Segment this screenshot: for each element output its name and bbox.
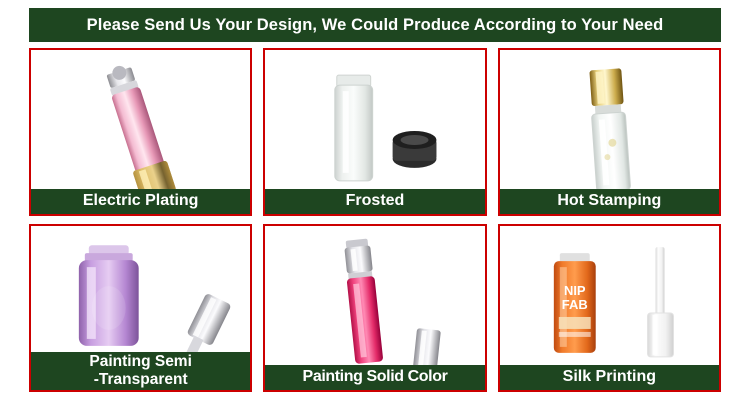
product-cell-hot-stamping[interactable]: Hot Stamping (498, 48, 721, 216)
svg-text:NIP: NIP (564, 283, 586, 298)
caption-frosted: Frosted (265, 189, 484, 214)
caption-painting-semi-transparent: Painting Semi -Transparent (31, 352, 250, 390)
caption-painting-solid-color: Painting Solid Color (265, 365, 484, 390)
product-cell-frosted[interactable]: Frosted (263, 48, 486, 216)
caption-electric-plating: Electric Plating (31, 189, 250, 214)
caption-line-2: -Transparent (31, 371, 250, 388)
caption-silk-printing: Silk Printing (500, 365, 719, 390)
product-grid: Electric Plating (29, 48, 721, 392)
svg-text:FAB: FAB (561, 297, 587, 312)
caption-hot-stamping: Hot Stamping (500, 189, 719, 214)
product-cell-silk-printing[interactable]: NIP FAB Silk Printing (498, 224, 721, 392)
header-banner: Please Send Us Your Design, We Could Pro… (29, 8, 721, 42)
product-cell-painting-semi-transparent[interactable]: Painting Semi -Transparent (29, 224, 252, 392)
product-showcase-page: Please Send Us Your Design, We Could Pro… (0, 0, 750, 400)
product-cell-painting-solid-color[interactable]: Painting Solid Color (263, 224, 486, 392)
caption-line-1: Painting Semi (31, 353, 250, 370)
product-cell-electric-plating[interactable]: Electric Plating (29, 48, 252, 216)
